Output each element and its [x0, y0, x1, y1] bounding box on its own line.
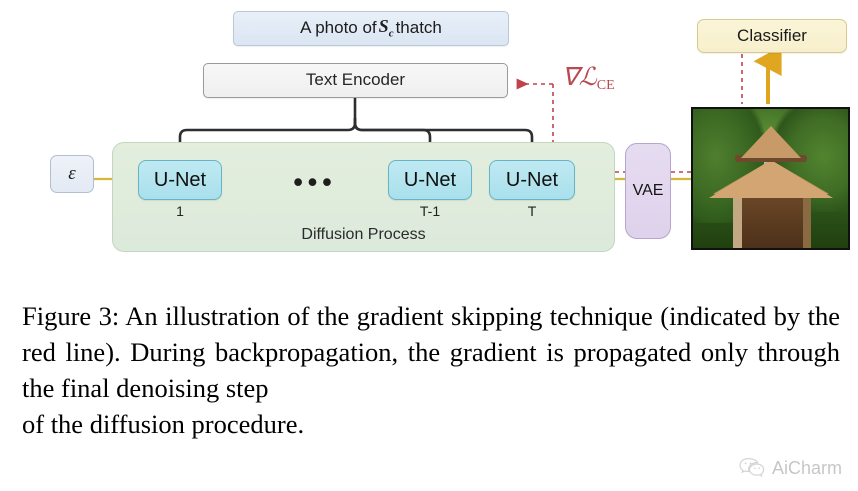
unet-index-t-minus-1: T-1 [388, 203, 472, 219]
vae-label: VAE [633, 182, 664, 200]
prompt-box: A photo of Sc thatch [233, 11, 509, 46]
watermark-text: AiCharm [772, 458, 842, 479]
vae-box: VAE [625, 143, 671, 239]
figure-caption: Figure 3: An illustration of the gradien… [22, 298, 840, 442]
ellipsis-dots: ••• [280, 167, 350, 198]
text-encoder-box: Text Encoder [203, 63, 508, 98]
prompt-suffix: thatch [396, 19, 442, 38]
caption-last-line: of the diffusion procedure. [22, 406, 840, 442]
unet-index-1: 1 [138, 203, 222, 219]
unet-label: U-Net [404, 169, 456, 191]
prompt-prefix: A photo of [300, 19, 377, 38]
classifier-box: Classifier [697, 19, 847, 53]
unet-index-t: T [489, 203, 575, 219]
hut-body [739, 195, 803, 248]
placeholder-token: Sc [379, 17, 394, 40]
wechat-icon [739, 457, 765, 479]
diffusion-process-label: Diffusion Process [113, 226, 614, 244]
figure-diagram: A photo of Sc thatch Text Encoder ∇ℒCE ε… [0, 0, 858, 285]
unet-label: U-Net [154, 169, 206, 191]
gradient-loss-subscript: CE [597, 78, 615, 93]
unet-block-t: U-Net [489, 160, 575, 200]
hut-post-left [733, 197, 742, 248]
classifier-label: Classifier [737, 27, 807, 46]
watermark: AiCharm [739, 457, 842, 479]
caption-text: Figure 3: An illustration of the gradien… [22, 301, 840, 403]
unet-block-1: U-Net [138, 160, 222, 200]
unet-label: U-Net [506, 169, 558, 191]
unet-block-t-minus-1: U-Net [388, 160, 472, 200]
gradient-loss-label: ∇ℒCE [562, 62, 615, 94]
hut-roof-lower [709, 160, 833, 198]
text-encoder-label: Text Encoder [306, 71, 405, 90]
hut-post-right [803, 198, 811, 248]
noise-label: ε [68, 164, 76, 185]
hut-roof-upper [741, 126, 801, 158]
generated-image [691, 107, 850, 250]
noise-input-box: ε [50, 155, 94, 193]
